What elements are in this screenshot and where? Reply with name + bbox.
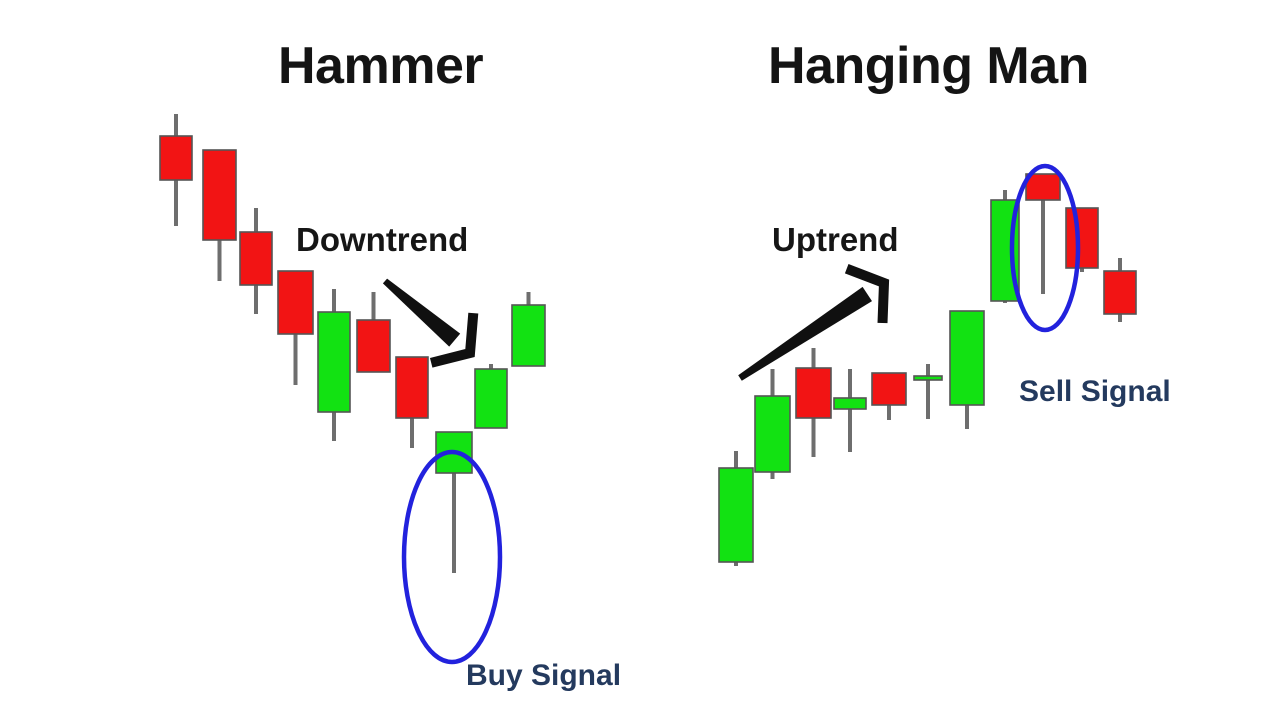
candlestick (512, 292, 545, 366)
candle-body-bearish (872, 373, 906, 405)
candle-body-bearish (796, 368, 831, 418)
candlestick (203, 150, 236, 281)
candlestick (396, 357, 428, 448)
candlestick (914, 364, 942, 419)
candle-body-bullish (834, 398, 866, 409)
candlestick (872, 373, 906, 420)
candlestick (834, 369, 866, 452)
candle-body-bearish (1026, 174, 1060, 200)
candlestick (240, 208, 272, 314)
candlestick (475, 364, 507, 428)
candle-body-bullish (512, 305, 545, 366)
candle-body-bullish (950, 311, 984, 405)
candlestick (1104, 258, 1136, 322)
candle-series-hammer (160, 114, 545, 573)
candlestick (755, 369, 790, 479)
candle-body-bearish (278, 271, 313, 334)
candlestick (278, 271, 313, 385)
candlestick (950, 311, 984, 429)
candle-body-bearish (396, 357, 428, 418)
candle-body-bullish (318, 312, 350, 412)
candle-body-bullish (475, 369, 507, 428)
arrow-shaft (383, 279, 460, 347)
trend-arrow-downtrend (383, 279, 473, 363)
candle-body-bearish (357, 320, 390, 372)
candle-body-bearish (203, 150, 236, 240)
candle-body-bearish (1104, 271, 1136, 314)
candle-series-hanging-man (719, 174, 1136, 566)
arrow-shaft (738, 287, 872, 381)
candlestick (719, 451, 753, 566)
candle-body-bullish (755, 396, 790, 472)
candle-body-bullish (914, 376, 942, 380)
candlestick (318, 289, 350, 441)
candlestick-vector-layer (0, 0, 1280, 720)
diagram-canvas: Hammer Hanging Man Downtrend Uptrend Buy… (0, 0, 1280, 720)
candlestick (160, 114, 192, 226)
candlestick (796, 348, 831, 457)
trend-arrow-layer (383, 269, 884, 381)
candlestick (1066, 208, 1098, 272)
candle-body-bearish (160, 136, 192, 180)
candle-body-bearish (1066, 208, 1098, 268)
candle-body-bullish (719, 468, 753, 562)
candle-body-bearish (240, 232, 272, 285)
candlestick-hanging-man (1026, 174, 1060, 294)
trend-arrow-uptrend (738, 269, 884, 381)
candlestick (357, 292, 390, 372)
